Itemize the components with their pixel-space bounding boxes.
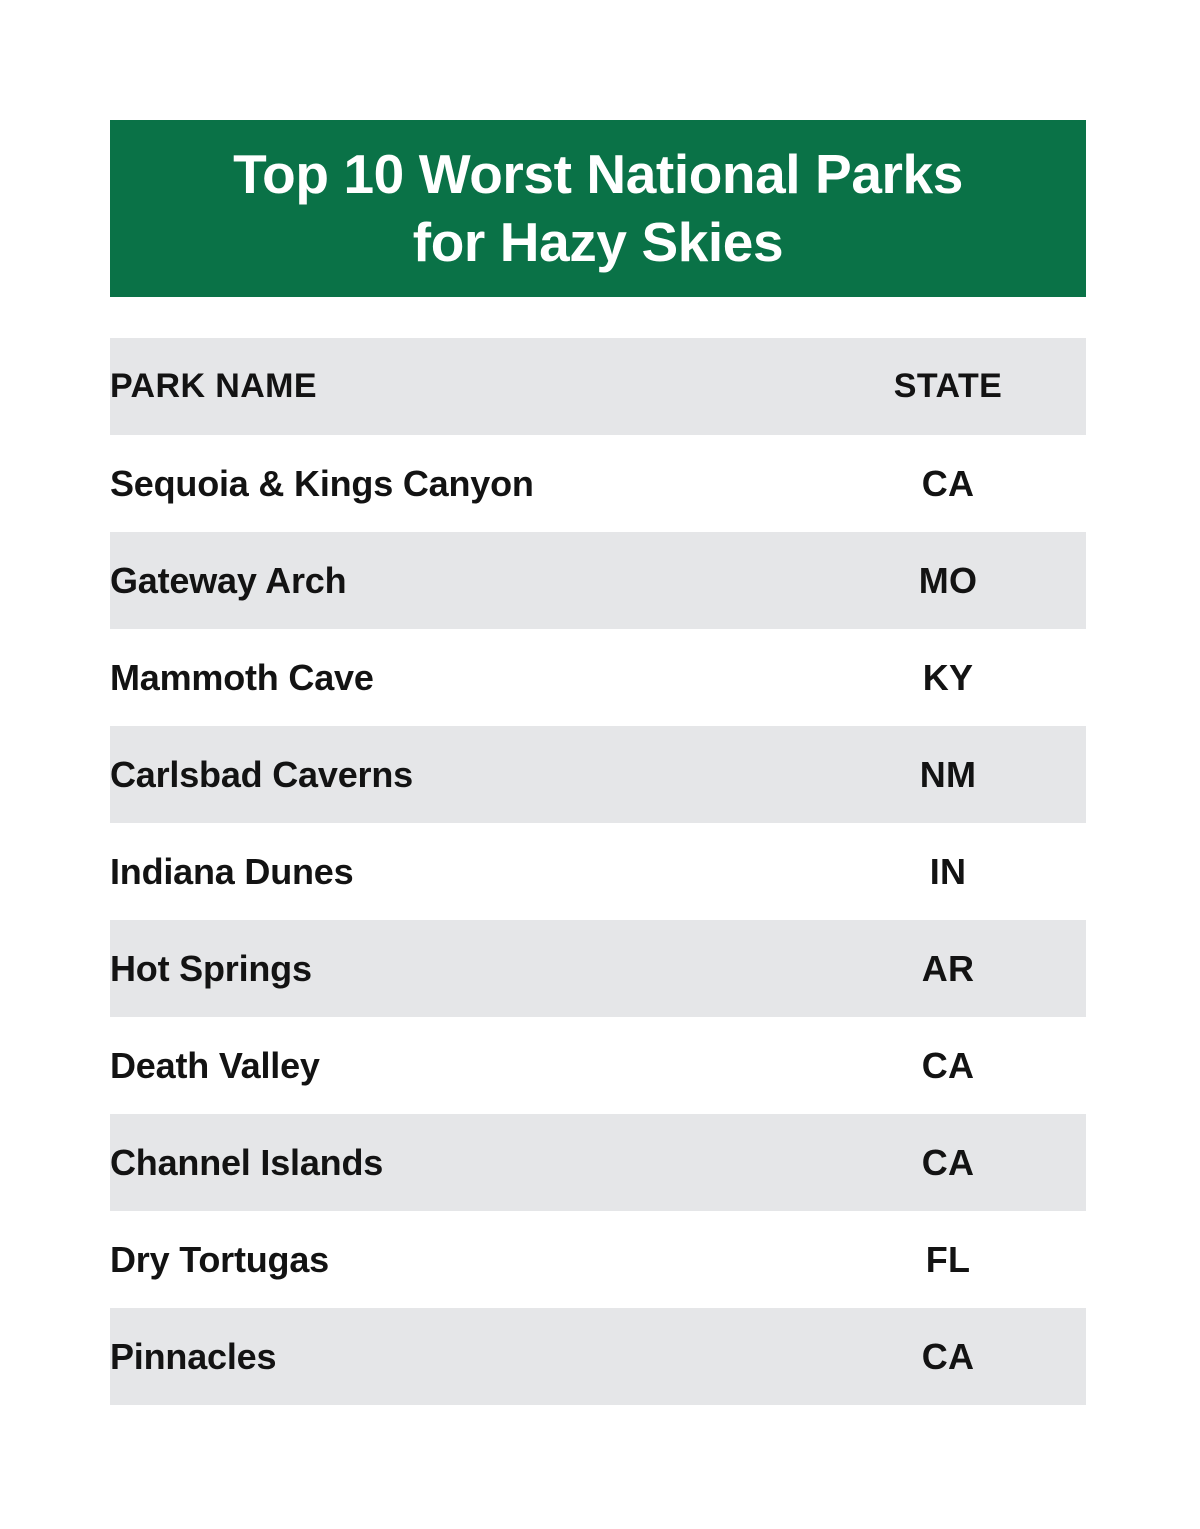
- park-name-cell: Gateway Arch: [110, 532, 810, 629]
- park-name-cell: Channel Islands: [110, 1114, 810, 1211]
- park-name-cell: Dry Tortugas: [110, 1211, 810, 1308]
- table-header: PARK NAME STATE: [110, 338, 1086, 435]
- state-label: AR: [810, 948, 1086, 990]
- park-name-label: Pinnacles: [110, 1336, 810, 1378]
- state-label: FL: [810, 1239, 1086, 1281]
- state-cell: AR: [810, 920, 1086, 1017]
- park-name-label: Sequoia & Kings Canyon: [110, 463, 810, 505]
- parks-table: PARK NAME STATE Sequoia & Kings Canyon C…: [110, 338, 1086, 1405]
- state-cell: CA: [810, 1017, 1086, 1114]
- state-label: NM: [810, 754, 1086, 796]
- state-cell: IN: [810, 823, 1086, 920]
- park-name-label: Hot Springs: [110, 948, 810, 990]
- park-name-label: Carlsbad Caverns: [110, 754, 810, 796]
- park-name-cell: Hot Springs: [110, 920, 810, 1017]
- table-row: Gateway Arch MO: [110, 532, 1086, 629]
- infographic-root: Top 10 Worst National Parks for Hazy Ski…: [0, 0, 1200, 1529]
- park-name-label: Gateway Arch: [110, 560, 810, 602]
- park-name-cell: Indiana Dunes: [110, 823, 810, 920]
- table-row: Indiana Dunes IN: [110, 823, 1086, 920]
- table-row: Dry Tortugas FL: [110, 1211, 1086, 1308]
- park-name-cell: Carlsbad Caverns: [110, 726, 810, 823]
- state-label: MO: [810, 560, 1086, 602]
- state-cell: CA: [810, 435, 1086, 532]
- state-cell: KY: [810, 629, 1086, 726]
- column-header-state: STATE: [810, 338, 1086, 435]
- table-row: Carlsbad Caverns NM: [110, 726, 1086, 823]
- table-row: Mammoth Cave KY: [110, 629, 1086, 726]
- park-name-label: Channel Islands: [110, 1142, 810, 1184]
- table-row: Death Valley CA: [110, 1017, 1086, 1114]
- park-name-label: Dry Tortugas: [110, 1239, 810, 1281]
- column-header-state-label: STATE: [810, 367, 1086, 406]
- table-row: Hot Springs AR: [110, 920, 1086, 1017]
- table-row: Channel Islands CA: [110, 1114, 1086, 1211]
- park-name-cell: Pinnacles: [110, 1308, 810, 1405]
- page-title: Top 10 Worst National Parks for Hazy Ski…: [233, 141, 963, 276]
- state-label: CA: [810, 1142, 1086, 1184]
- state-cell: MO: [810, 532, 1086, 629]
- state-label: CA: [810, 463, 1086, 505]
- table-body: Sequoia & Kings Canyon CA Gateway Arch M…: [110, 435, 1086, 1405]
- park-name-label: Death Valley: [110, 1045, 810, 1087]
- table-header-row: PARK NAME STATE: [110, 338, 1086, 435]
- park-name-label: Mammoth Cave: [110, 657, 810, 699]
- table-row: Pinnacles CA: [110, 1308, 1086, 1405]
- park-name-label: Indiana Dunes: [110, 851, 810, 893]
- state-cell: CA: [810, 1114, 1086, 1211]
- park-name-cell: Sequoia & Kings Canyon: [110, 435, 810, 532]
- park-name-cell: Death Valley: [110, 1017, 810, 1114]
- column-header-park-name-label: PARK NAME: [110, 367, 810, 406]
- column-header-park-name: PARK NAME: [110, 338, 810, 435]
- state-cell: FL: [810, 1211, 1086, 1308]
- title-banner: Top 10 Worst National Parks for Hazy Ski…: [110, 120, 1086, 297]
- state-label: IN: [810, 851, 1086, 893]
- table-row: Sequoia & Kings Canyon CA: [110, 435, 1086, 532]
- state-label: KY: [810, 657, 1086, 699]
- state-label: CA: [810, 1336, 1086, 1378]
- state-label: CA: [810, 1045, 1086, 1087]
- state-cell: NM: [810, 726, 1086, 823]
- state-cell: CA: [810, 1308, 1086, 1405]
- park-name-cell: Mammoth Cave: [110, 629, 810, 726]
